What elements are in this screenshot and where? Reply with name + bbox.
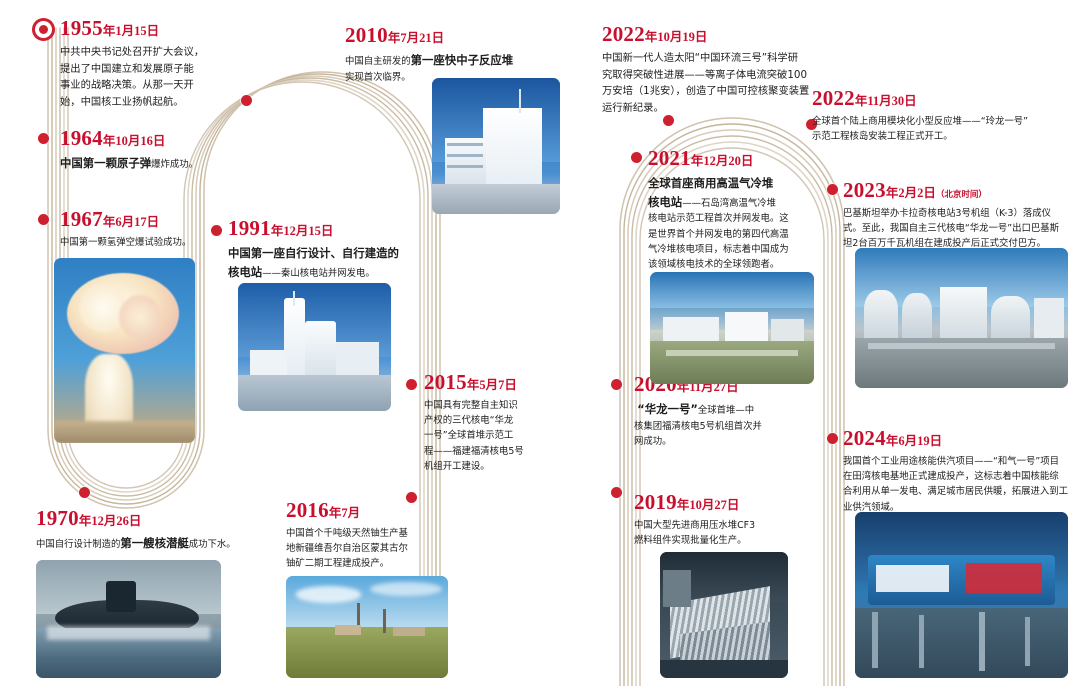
event-date-1955: 1955年1月15日 [60, 18, 235, 39]
event-text-1964: 中国第一颗原子弹爆炸成功。 [60, 154, 260, 173]
event-2015: 2015年5月7日 中国具有完整自主知识 产权的三代核电“华龙 一号”全球首堆示… [424, 372, 564, 474]
timeline-marker-1967 [38, 214, 49, 225]
event-2024: 2024年6月19日 我国首个工业用途核能供汽项目——“和气一号”项目 在田湾核… [843, 428, 1078, 515]
event-text-1970: 中国自行设计制造的第一艘核潜艇成功下水。 [36, 534, 276, 553]
event-text-2020: “华龙一号”全球首堆—中 核集团福清核电5号机组首次并 网成功。 [634, 400, 809, 449]
event-text-1955: 中共中央书记处召开扩大会议， 提出了中国建立和发展原子能 事业的战略决策。从那一… [60, 44, 235, 111]
event-1955: 1955年1月15日 中共中央书记处召开扩大会议， 提出了中国建立和发展原子能 … [60, 18, 235, 111]
timeline-marker-1970 [79, 487, 90, 498]
event-2020: 2020年11月27日 “华龙一号”全球首堆—中 核集团福清核电5号机组首次并 … [634, 374, 809, 449]
event-date-2015: 2015年5月7日 [424, 372, 564, 393]
timeline-marker-1955 [32, 18, 55, 41]
photo-karachi-k3-plant [855, 248, 1068, 388]
event-2023: 2023年2月2日（北京时间） 巴基斯坦举办卡拉奇核电站3号机组（K-3）落成仪… [843, 180, 1078, 252]
event-date-1970: 1970年12月26日 [36, 508, 276, 529]
event-text-2015: 中国具有完整自主知识 产权的三代核电“华龙 一号”全球首堆示范工 程——福建福清… [424, 398, 564, 474]
event-1964: 1964年10月16日 中国第一颗原子弹爆炸成功。 [60, 128, 260, 173]
event-1970: 1970年12月26日 中国自行设计制造的第一艘核潜艇成功下水。 [36, 508, 276, 553]
timeline-infographic: 1955年1月15日 中共中央书记处召开扩大会议， 提出了中国建立和发展原子能 … [0, 0, 1080, 686]
timeline-marker-2020 [611, 379, 622, 390]
timeline-marker-2024 [827, 433, 838, 444]
event-text-1991: 中国第一座自行设计、自行建造的 核电站——秦山核电站并网发电。 [228, 244, 428, 281]
timeline-marker-2019 [611, 487, 622, 498]
event-text-2016: 中国首个千吨级天然铀生产基 地新疆维吾尔自治区蒙其古尔 铀矿二期工程建成投产。 [286, 526, 461, 572]
event-date-2022-october: 2022年10月19日 [602, 24, 902, 45]
event-2016: 2016年7月 中国首个千吨级天然铀生产基 地新疆维吾尔自治区蒙其古尔 铀矿二期… [286, 500, 461, 572]
photo-uranium-mine-grassland [286, 576, 448, 678]
photo-heqi-steam-project [855, 512, 1068, 678]
photo-qinshan-nuclear-plant [238, 283, 391, 411]
photo-fast-neutron-reactor-building [432, 78, 560, 214]
timeline-marker-2010 [241, 95, 252, 106]
event-2022-november: 2022年11月30日 全球首个陆上商用模块化小型反应堆——“玲龙一号” 示范工… [812, 88, 1077, 144]
event-date-2022-november: 2022年11月30日 [812, 88, 1077, 109]
photo-shidaowan-htgr-plant [650, 272, 814, 384]
event-text-2024: 我国首个工业用途核能供汽项目——“和气一号”项目 在田湾核电基地正式建成投产，这… [843, 454, 1078, 515]
timeline-marker-1964 [38, 133, 49, 144]
event-date-2016: 2016年7月 [286, 500, 461, 521]
photo-nuclear-submarine [36, 560, 221, 678]
event-date-2010: 2010年7月21日 [345, 25, 600, 46]
photo-atomic-bomb-mushroom-cloud [54, 258, 195, 443]
event-date-2021: 2021年12月20日 [648, 148, 848, 169]
event-date-2019: 2019年10月27日 [634, 492, 819, 513]
event-text-2021: 全球首座商用高温气冷堆 核电站——石岛湾高温气冷堆 核电站示范工程首次并网发电。… [648, 174, 848, 272]
event-1991: 1991年12月15日 中国第一座自行设计、自行建造的 核电站——秦山核电站并网… [228, 218, 428, 281]
event-text-2019: 中国大型先进商用压水堆CF3 燃料组件实现批量化生产。 [634, 518, 819, 548]
event-date-1991: 1991年12月15日 [228, 218, 428, 239]
timeline-marker-2015 [406, 379, 417, 390]
event-text-2022-november: 全球首个陆上商用模块化小型反应堆——“玲龙一号” 示范工程核岛安装工程正式开工。 [812, 114, 1077, 144]
event-date-2024: 2024年6月19日 [843, 428, 1078, 449]
event-text-2023: 巴基斯坦举办卡拉奇核电站3号机组（K-3）落成仪 式。至此，我国自主三代核电“华… [843, 206, 1078, 252]
event-2019: 2019年10月27日 中国大型先进商用压水堆CF3 燃料组件实现批量化生产。 [634, 492, 819, 548]
event-date-2023: 2023年2月2日（北京时间） [843, 180, 1078, 201]
event-2010: 2010年7月21日 中国自主研发的第一座快中子反应堆 实现首次临界。 [345, 25, 600, 85]
timeline-marker-2021 [631, 152, 642, 163]
event-date-1964: 1964年10月16日 [60, 128, 260, 149]
photo-cf3-fuel-assembly [660, 552, 788, 678]
event-2021: 2021年12月20日 全球首座商用高温气冷堆 核电站——石岛湾高温气冷堆 核电… [648, 148, 848, 272]
